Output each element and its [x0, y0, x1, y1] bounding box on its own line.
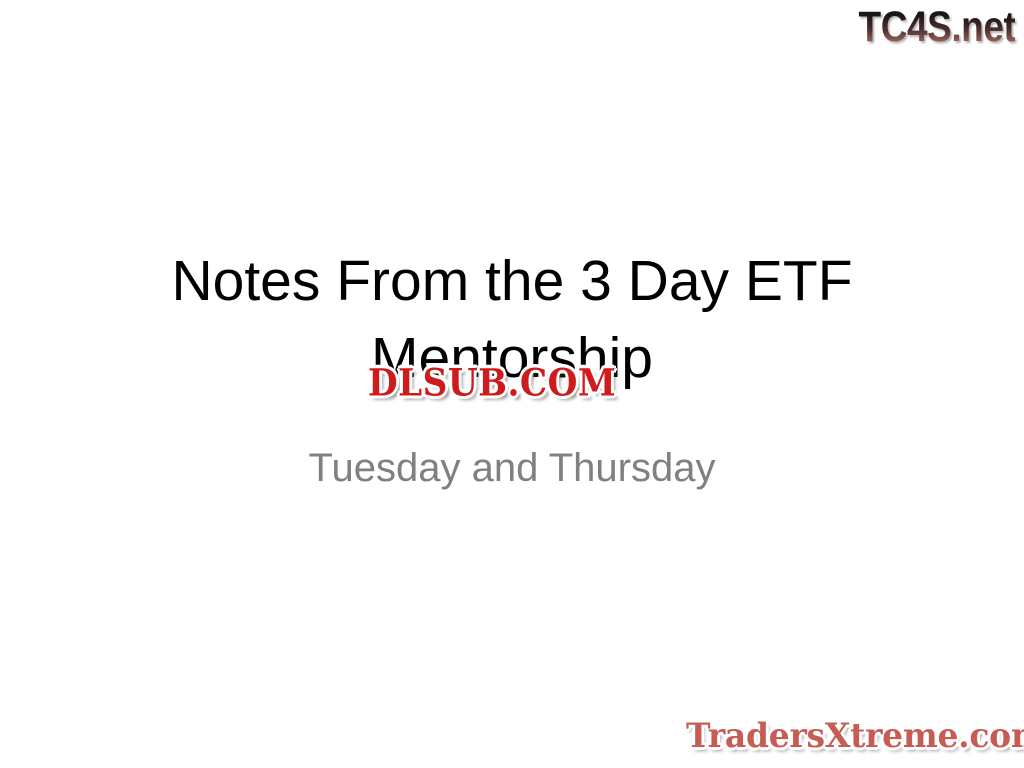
dlsub-com-watermark: DLSUB.COM: [368, 362, 616, 404]
tradersxtreme-com-watermark: TradersXtreme.com: [686, 716, 1024, 756]
slide-subtitle: Tuesday and Thursday: [112, 443, 912, 493]
subtitle-placeholder: Tuesday and Thursday: [112, 443, 912, 493]
tc4s-net-logo-watermark: TC4S.net: [858, 4, 1015, 50]
presentation-slide: TC4S.net Notes From the 3 Day ETF Mentor…: [0, 0, 1024, 768]
